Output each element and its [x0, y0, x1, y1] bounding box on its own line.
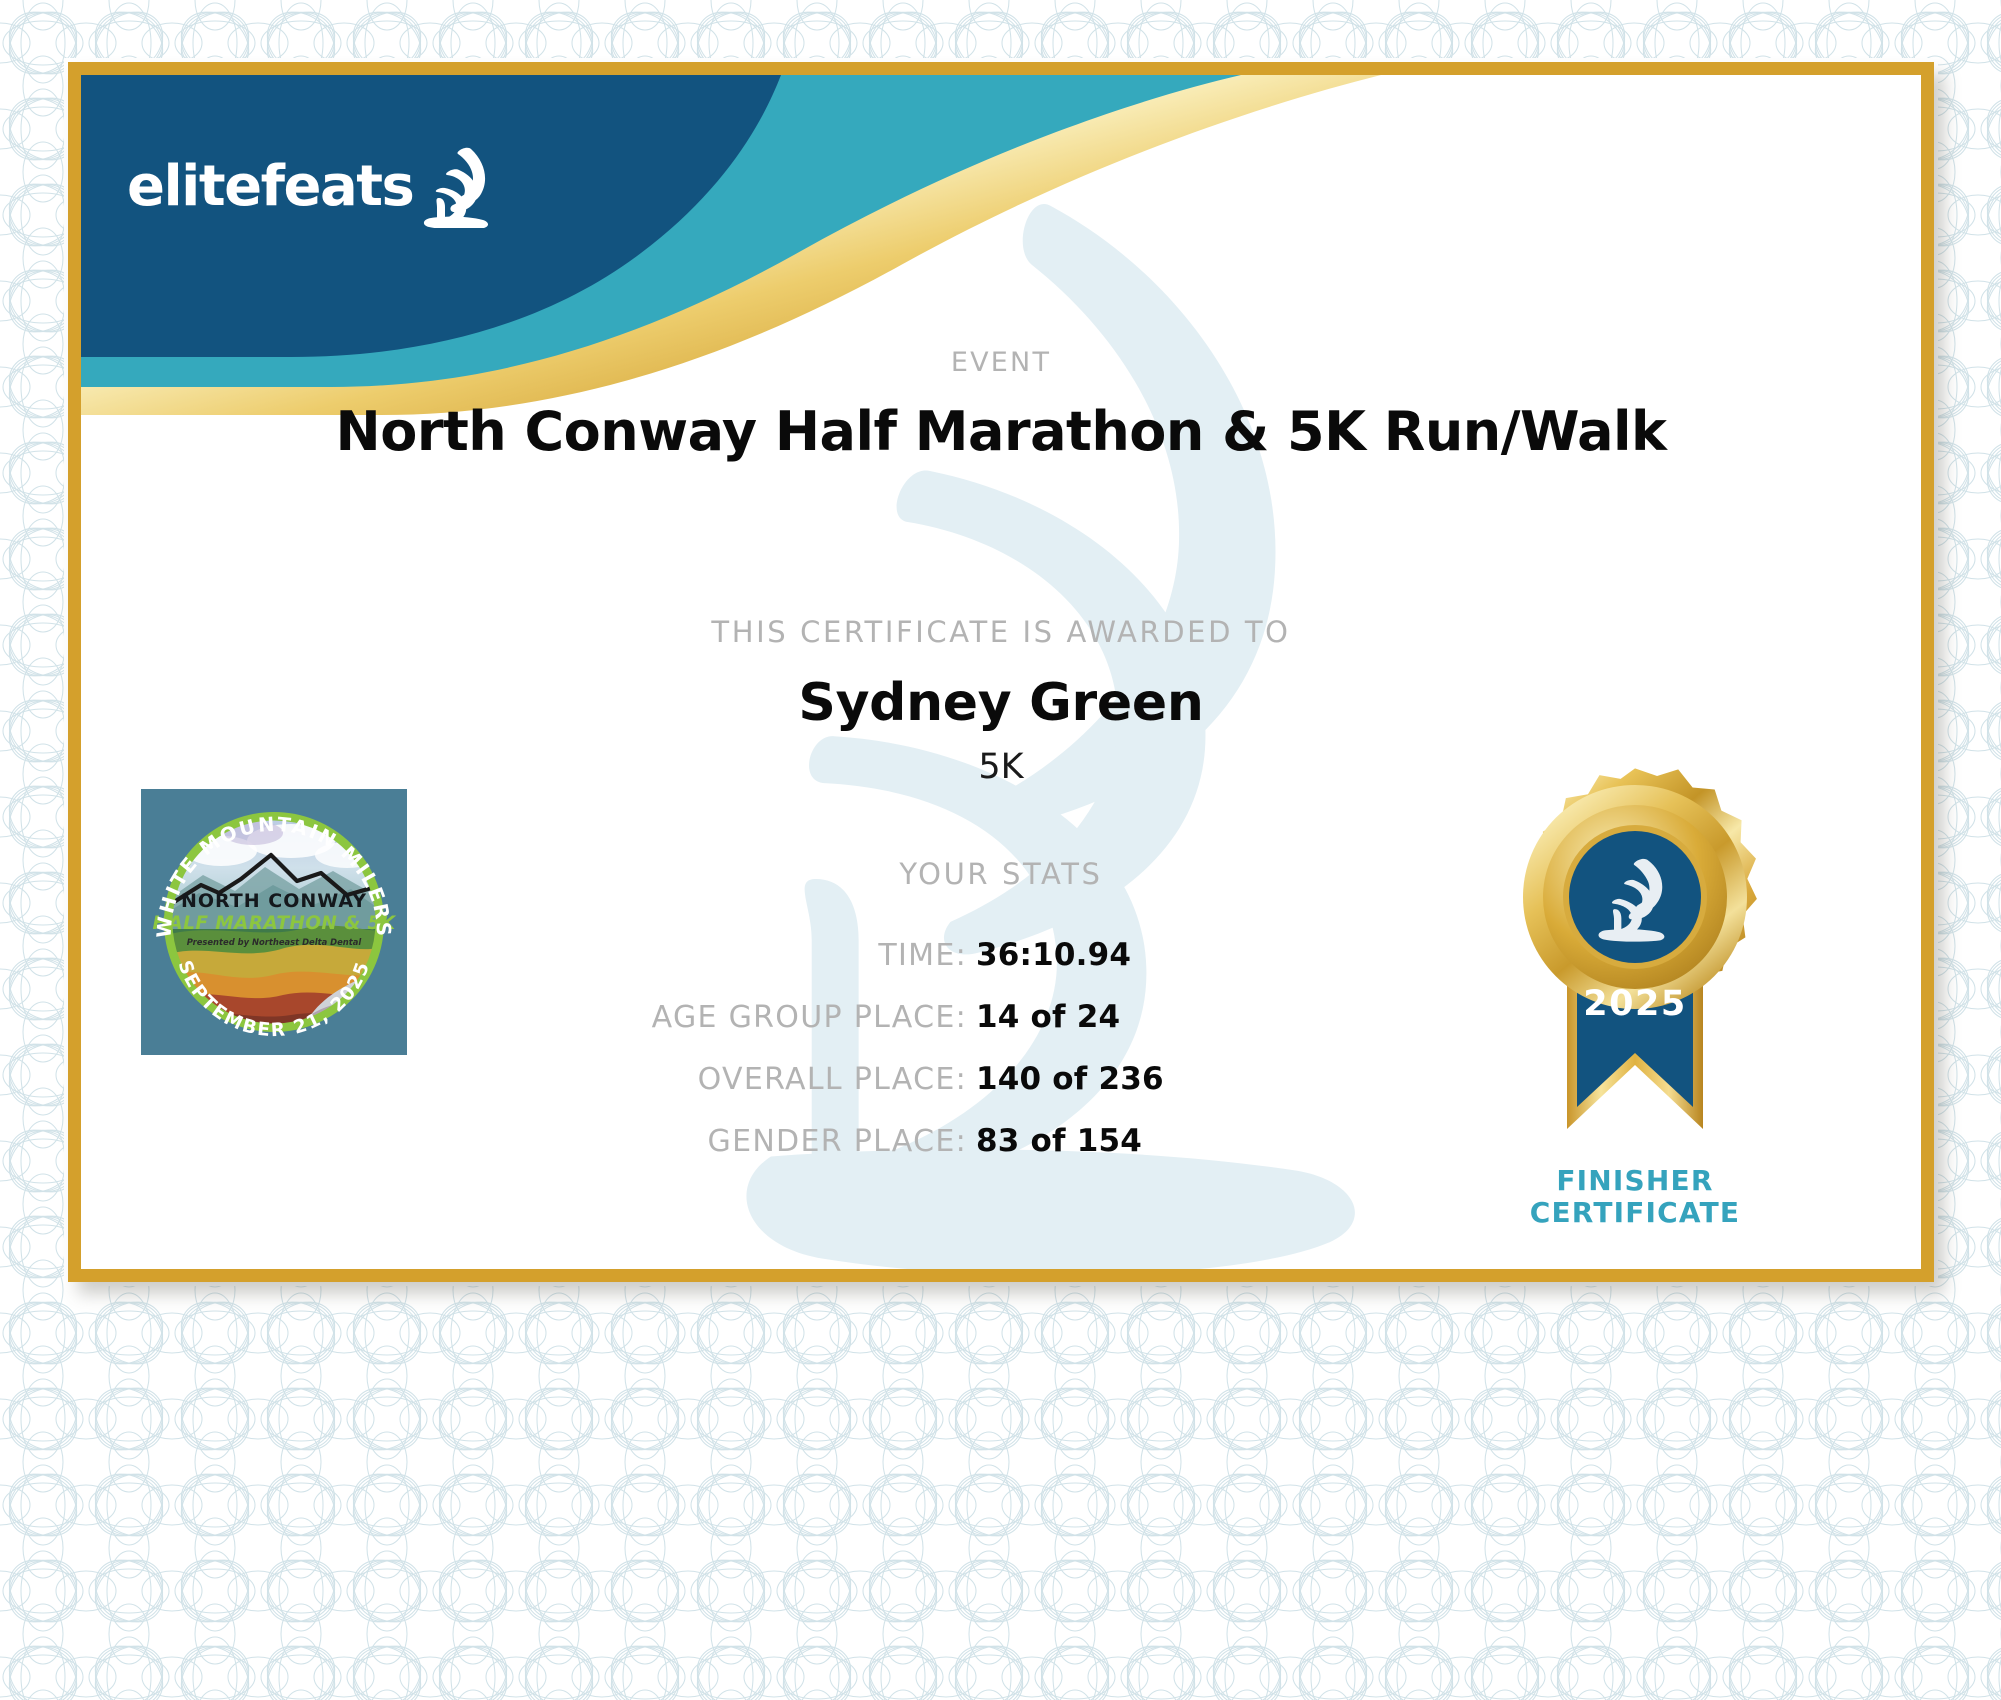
certificate-panel: elitefeats	[68, 62, 1934, 1282]
stat-value-gender-place: 83 of 154	[976, 1123, 1406, 1159]
stat-row-gender-place: GENDER PLACE: 83 of 154	[411, 1123, 1411, 1185]
stat-label-gender-place: GENDER PLACE:	[416, 1124, 976, 1159]
race-event-logo: NORTH CONWAY HALF MARATHON & 5K Presente…	[141, 789, 407, 1055]
stat-row-overall-place: OVERALL PLACE: 140 of 236	[411, 1061, 1411, 1123]
event-title: North Conway Half Marathon & 5K Run/Walk	[81, 400, 1921, 463]
finisher-medal: 2025	[1495, 747, 1775, 1167]
logo-event-line1: NORTH CONWAY	[181, 890, 367, 912]
stat-value-overall-place: 140 of 236	[976, 1061, 1406, 1097]
stat-label-age-group-place: AGE GROUP PLACE:	[416, 1000, 976, 1035]
finisher-caption-line2: CERTIFICATE	[1475, 1197, 1795, 1229]
logo-event-line2: HALF MARATHON & 5K	[153, 913, 397, 934]
brand-wordmark: elitefeats	[127, 159, 413, 215]
finisher-caption: FINISHER CERTIFICATE	[1475, 1165, 1795, 1230]
stat-row-age-group-place: AGE GROUP PLACE: 14 of 24	[411, 999, 1411, 1061]
winged-foot-icon	[415, 146, 493, 228]
awarded-to-label: THIS CERTIFICATE IS AWARDED TO	[81, 615, 1921, 649]
elitefeats-logo: elitefeats	[127, 137, 527, 237]
event-label: EVENT	[81, 347, 1921, 378]
finisher-caption-line1: FINISHER	[1475, 1165, 1795, 1197]
stat-value-time: 36:10.94	[976, 937, 1406, 973]
stats-table: TIME: 36:10.94 AGE GROUP PLACE: 14 of 24…	[411, 937, 1411, 1185]
recipient-name: Sydney Green	[81, 673, 1921, 733]
stat-label-time: TIME:	[416, 938, 976, 973]
stat-label-overall-place: OVERALL PLACE:	[416, 1062, 976, 1097]
logo-presented-by: Presented by Northeast Delta Dental	[187, 937, 362, 947]
stat-row-time: TIME: 36:10.94	[411, 937, 1411, 999]
medal-year: 2025	[1583, 984, 1686, 1024]
stat-value-age-group-place: 14 of 24	[976, 999, 1406, 1035]
